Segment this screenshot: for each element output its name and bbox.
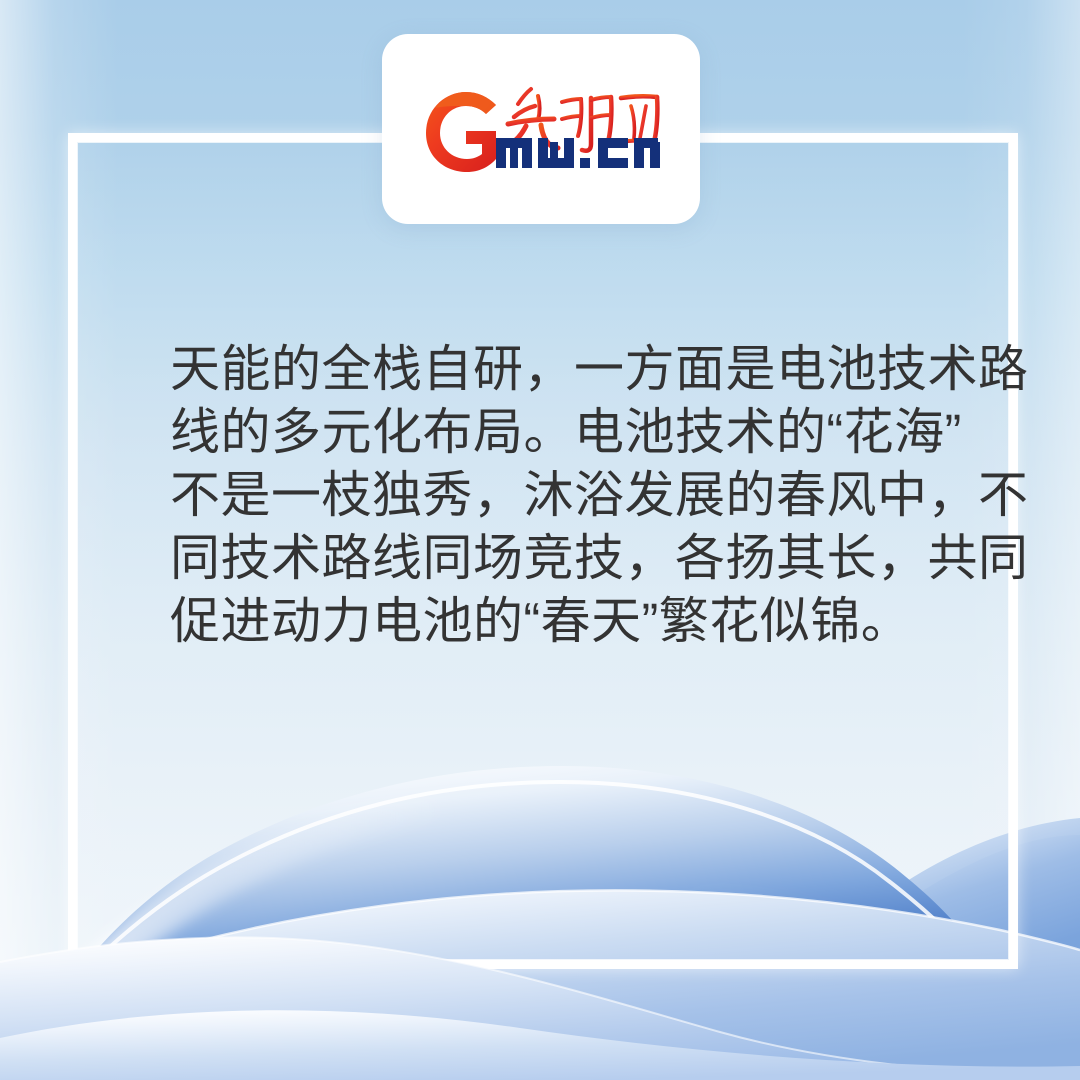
quote-text-block: 天能的全栈自研，一方面是电池技术路 线的多元化布局。电池技术的“花海” 不是一枝… [170, 338, 950, 653]
gmw-logo [422, 86, 660, 172]
quote-line: 天能的全栈自研，一方面是电池技术路 [170, 338, 950, 401]
quote-line: 促进动力电池的“春天”繁花似锦。 [170, 590, 950, 653]
quote-line: 线的多元化布局。电池技术的“花海” [170, 401, 950, 464]
gmw-brand-cn-3 [621, 96, 657, 142]
quote-line: 不是一枝独秀，沐浴发展的春风中，不 [170, 464, 950, 527]
gmw-logo-icon [422, 86, 660, 172]
gmw-logo-card[interactable] [382, 34, 700, 224]
poster-canvas: 天能的全栈自研，一方面是电池技术路 线的多元化布局。电池技术的“花海” 不是一枝… [0, 0, 1080, 1080]
quote-line: 同技术路线同场竞技，各扬其长，共同 [170, 527, 950, 590]
gmw-brand-url [496, 138, 660, 168]
gmw-g-mark [426, 92, 496, 172]
